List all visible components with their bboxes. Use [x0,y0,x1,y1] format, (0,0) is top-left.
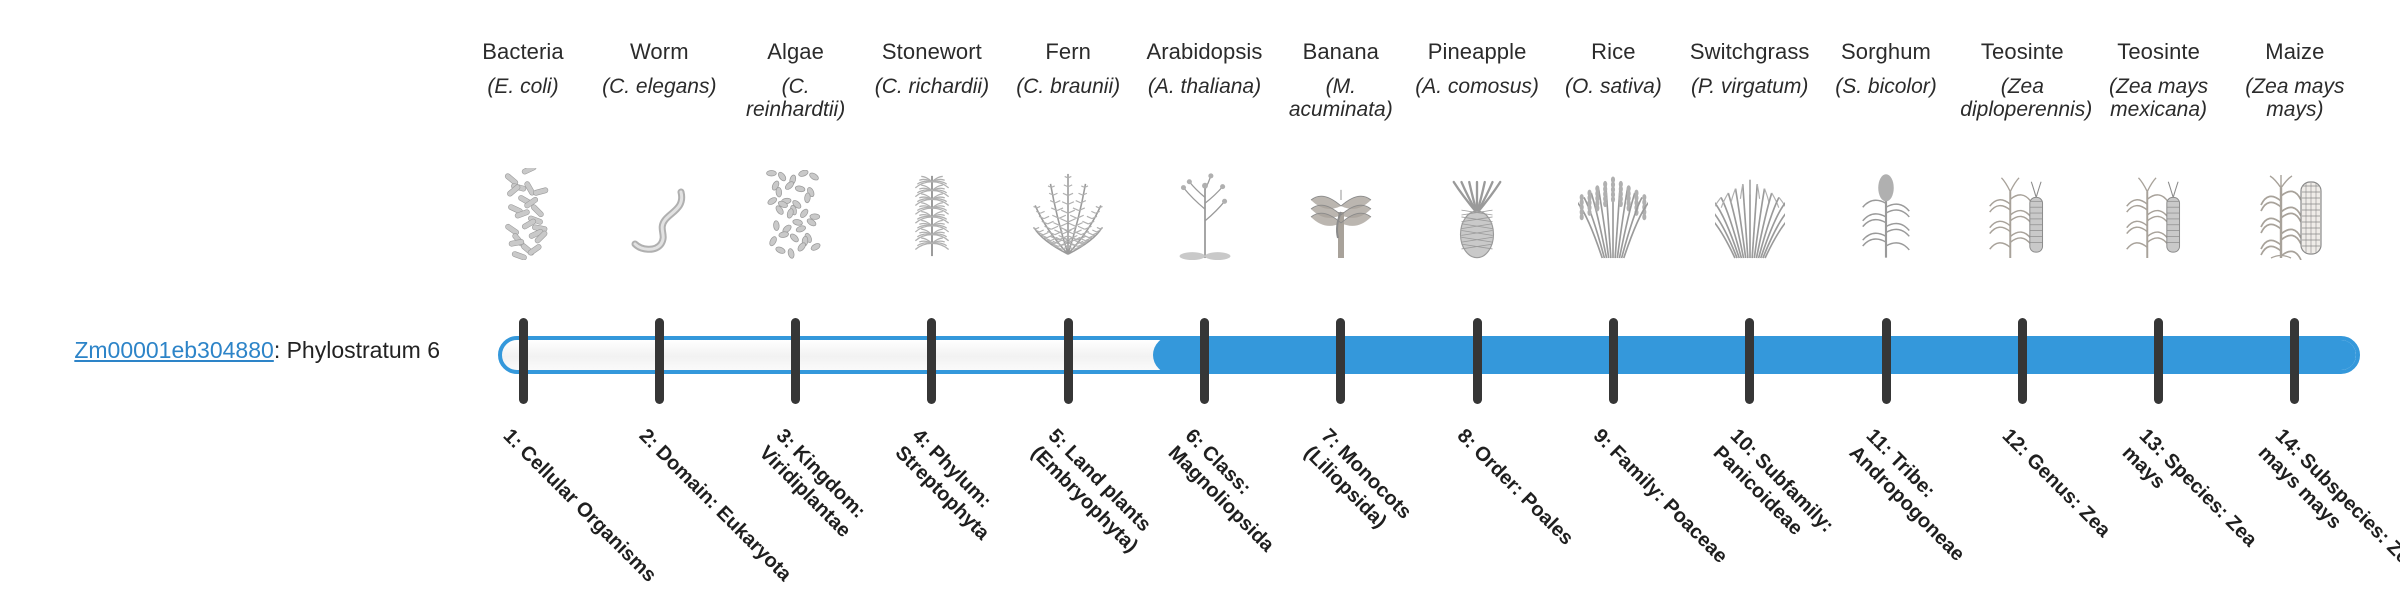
phylostratum-rank: Cellular Organisms [515,441,660,586]
species-column-arabidopsis: Arabidopsis(A. thaliana) [1143,40,1267,98]
species-common-name: Stonewort [870,40,994,65]
species-scientific-name: (M. acuminata) [1279,75,1403,122]
phylostratum-tick-14[interactable] [2290,318,2299,404]
species-scientific-name: (Zea mays mays) [2233,75,2357,122]
teosinte-mexicana-icon [2094,168,2224,260]
rice-icon [1548,168,1678,260]
phylostratum-rank: Order: Poales [1469,441,1577,549]
species-scientific-name: (Zea diploperennis) [1960,75,2084,122]
phylostratum-progress-fill [1153,336,2357,374]
species-scientific-name: (A. thaliana) [1143,75,1267,99]
phylostratum-tick-11[interactable] [1882,318,1891,404]
phylostratum-tick-7[interactable] [1336,318,1345,404]
species-common-name: Bacteria [461,40,585,65]
arabidopsis-icon [1140,168,1270,260]
bacteria-icon [458,168,588,260]
species-common-name: Fern [1006,40,1130,65]
species-column-worm: Worm(C. elegans) [597,40,721,98]
sorghum-icon [1821,168,1951,260]
species-common-name: Rice [1551,40,1675,65]
phylostratum-tick-2[interactable] [655,318,664,404]
phylostratum-rank: Monocots (Liliopsida) [1300,441,1416,532]
algae-icon [731,168,861,260]
maize-icon [2230,168,2360,260]
species-common-name: Teosinte [2097,40,2221,65]
teosinte-diploperennis-icon [1957,168,2087,260]
gene-id-link[interactable]: Zm00001eb304880 [74,337,274,363]
species-common-name: Worm [597,40,721,65]
species-common-name: Arabidopsis [1143,40,1267,65]
phylostratum-tick-4[interactable] [927,318,936,404]
phylostratum-tick-9[interactable] [1609,318,1618,404]
gene-phylostratum-value: Phylostratum 6 [287,337,440,363]
species-column-sorghum: Sorghum(S. bicolor) [1824,40,1948,98]
species-scientific-name: (O. sativa) [1551,75,1675,99]
worm-icon [594,168,724,260]
species-common-name: Pineapple [1415,40,1539,65]
fern-icon [1003,168,1133,260]
species-scientific-name: (A. comosus) [1415,75,1539,99]
phylostratum-tick-3[interactable] [791,318,800,404]
gene-phylostratum-label: Zm00001eb304880: Phylostratum 6 [40,337,440,364]
phylostratum-tick-8[interactable] [1473,318,1482,404]
phylostratum-tick-5[interactable] [1064,318,1073,404]
species-common-name: Maize [2233,40,2357,65]
species-scientific-name: (C. reinhardtii) [734,75,858,122]
phylostratum-rank: Species: Zea mays [2117,442,2260,551]
phylostratum-tick-12[interactable] [2018,318,2027,404]
species-column-rice: Rice(O. sativa) [1551,40,1675,98]
species-scientific-name: (C. richardii) [870,75,994,99]
stonewort-icon [867,168,997,260]
phylostratum-rank: Kingdom: Viridiplantae [754,441,869,542]
species-column-switchgrass: Switchgrass(P. virgatum) [1688,40,1812,98]
species-column-maize: Maize(Zea mays mays) [2233,40,2357,122]
phylostratum-rank: Land plants (Embryophyta) [1027,441,1155,557]
gene-label-separator: : [274,337,287,363]
species-column-stonewort: Stonewort(C. richardii) [870,40,994,98]
species-column-teosinte: Teosinte(Zea diploperennis) [1960,40,2084,122]
species-scientific-name: (S. bicolor) [1824,75,1948,99]
species-common-name: Sorghum [1824,40,1948,65]
phylostratum-tick-10[interactable] [1745,318,1754,404]
phylostratum-progress-track[interactable] [498,336,2360,374]
phylostratum-tick-13[interactable] [2154,318,2163,404]
banana-icon [1276,168,1406,260]
species-scientific-name: (Zea mays mexicana) [2097,75,2221,122]
species-column-teosinte: Teosinte(Zea mays mexicana) [2097,40,2221,122]
phylostratum-rank: Subfamily: Panicoideae [1708,442,1837,540]
phylostratum-label-1: 1: Cellular Organisms [498,424,663,589]
pineapple-icon [1412,168,1542,260]
species-common-name: Teosinte [1960,40,2084,65]
species-column-fern: Fern(C. braunii) [1006,40,1130,98]
species-common-name: Switchgrass [1688,40,1812,65]
phylostratum-rank: Phylum: Streptophyta [891,441,996,544]
species-scientific-name: (C. elegans) [597,75,721,99]
phylostratum-timeline: Zm00001eb304880: Phylostratum 6 Bacteria… [0,0,2400,580]
phylostratum-label-8: 8: Order: Poales [1452,424,1617,589]
phylostratum-rank: Genus: Zea [2022,449,2115,542]
phylostratum-tick-6[interactable] [1200,318,1209,404]
phylostratum-rank: Class: Magnoliopsida [1163,441,1278,556]
species-common-name: Banana [1279,40,1403,65]
species-column-algae: Algae(C. reinhardtii) [734,40,858,122]
species-column-bacteria: Bacteria(E. coli) [461,40,585,98]
species-common-name: Algae [734,40,858,65]
phylostratum-tick-1[interactable] [519,318,528,404]
species-scientific-name: (C. braunii) [1006,75,1130,99]
species-scientific-name: (P. virgatum) [1688,75,1812,99]
species-scientific-name: (E. coli) [461,75,585,99]
species-column-banana: Banana(M. acuminata) [1279,40,1403,122]
switchgrass-icon [1685,168,1815,260]
species-column-pineapple: Pineapple(A. comosus) [1415,40,1539,98]
phylostratum-number: 12: [1998,425,2034,461]
